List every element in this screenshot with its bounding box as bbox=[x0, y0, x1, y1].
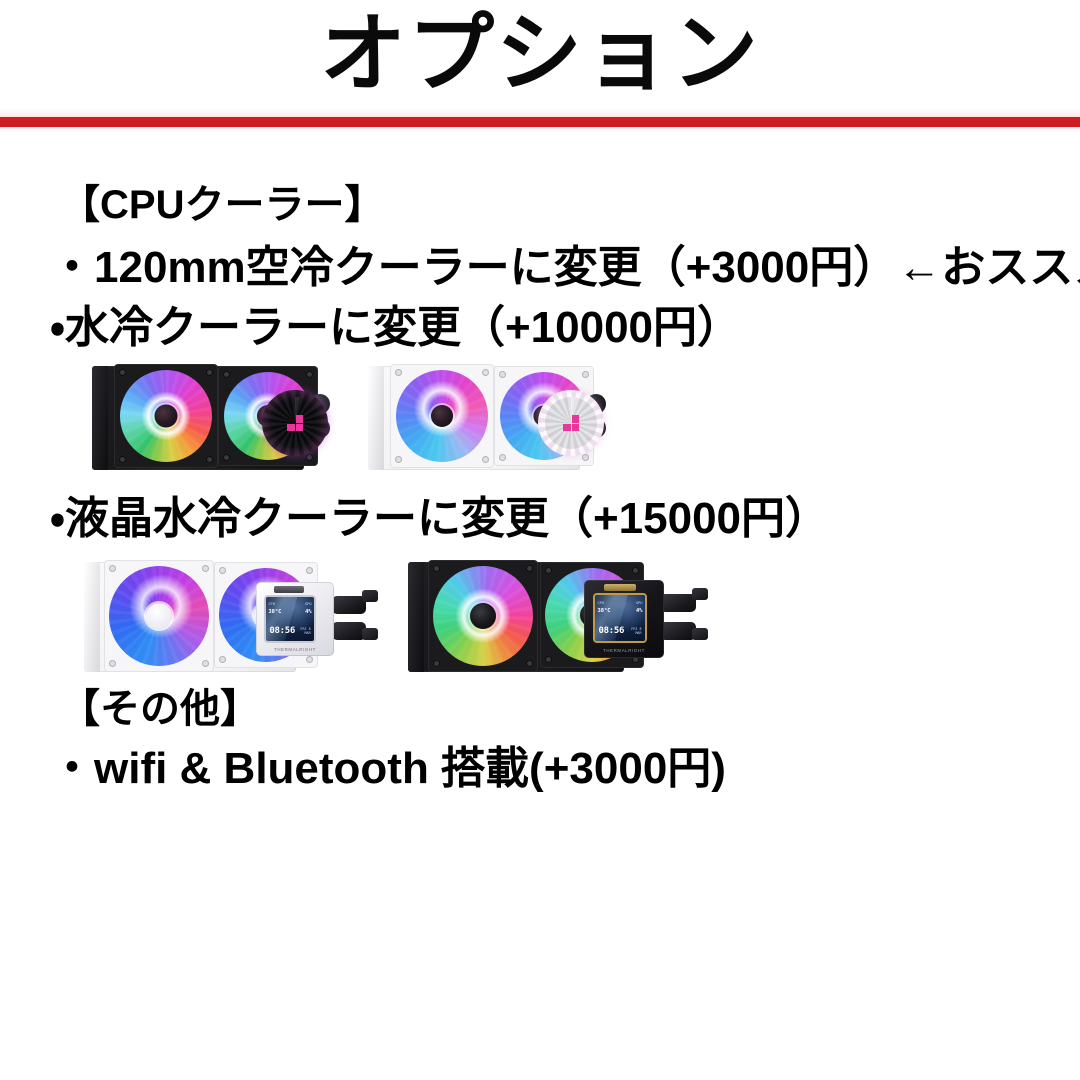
lcd-clock-sub-bottom: MAR bbox=[300, 631, 310, 635]
fan-screw bbox=[582, 371, 589, 378]
fan-screw bbox=[433, 565, 440, 572]
fan-screw bbox=[223, 371, 230, 378]
tube-fitting bbox=[660, 622, 696, 640]
fan-screw bbox=[499, 454, 506, 461]
fan-screw bbox=[395, 456, 402, 463]
lcd-clock-white: 08:56 bbox=[269, 626, 295, 636]
product-image-white-lcd-aio: CPU GPU 38°C 4% 08:56 FRI 8 MAR THERMALR… bbox=[84, 556, 374, 682]
page-title: オプション bbox=[0, 0, 1080, 108]
fan-screw bbox=[219, 656, 226, 663]
product-image-black-lcd-aio: CPU GPU 38°C 4% 08:56 FRI 8 MAR THERMALR… bbox=[408, 556, 708, 682]
radiator-end-tank bbox=[92, 366, 108, 470]
fan-screw bbox=[219, 567, 226, 574]
fan-screw bbox=[306, 567, 313, 574]
fan-screw bbox=[526, 565, 533, 572]
fan-screw bbox=[202, 565, 209, 572]
lcd-cpu-label: CPU bbox=[268, 603, 275, 607]
fan-screw bbox=[482, 369, 489, 376]
fan-screw bbox=[202, 660, 209, 667]
pump-brand-label-white: THERMALRIGHT bbox=[274, 647, 316, 652]
fan-black-lcd-1 bbox=[428, 560, 538, 672]
product-row-lcd-coolers: CPU GPU 38°C 4% 08:56 FRI 8 MAR THERMALR… bbox=[0, 556, 1080, 688]
thermalright-logo-icon bbox=[563, 415, 579, 431]
fan-screw bbox=[206, 369, 213, 376]
fan-screw bbox=[395, 369, 402, 376]
lcd-gpu-value: 4% bbox=[305, 610, 312, 615]
fan-screw bbox=[526, 660, 533, 667]
fan-screw bbox=[206, 456, 213, 463]
fan-screw bbox=[632, 567, 639, 574]
fan-screw bbox=[582, 454, 589, 461]
lcd-clock-sub-white: FRI 8 MAR bbox=[300, 627, 310, 636]
lcd-clock-sub-black: FRI 8 MAR bbox=[631, 627, 641, 636]
fan-white-lcd-1 bbox=[104, 560, 214, 672]
fan-screw bbox=[223, 454, 230, 461]
fan-screw bbox=[119, 369, 126, 376]
fan-screw bbox=[306, 371, 313, 378]
tube-fitting bbox=[332, 622, 366, 640]
lcd-gpu-label: GPU bbox=[636, 602, 643, 606]
lcd-clock-sub-bottom: MAR bbox=[631, 631, 641, 635]
fan-screw bbox=[109, 565, 116, 572]
pump-block-lcd-black: CPU GPU 38°C 4% 08:56 FRI 8 MAR THERMALR… bbox=[584, 580, 664, 658]
lcd-stat-labels: CPU GPU bbox=[268, 603, 311, 607]
tube-arm bbox=[362, 628, 378, 640]
fan-screw bbox=[545, 656, 552, 663]
fan-screw bbox=[545, 567, 552, 574]
pump-top-tab bbox=[274, 586, 304, 593]
fan-screw bbox=[433, 660, 440, 667]
tube-arm bbox=[362, 590, 378, 602]
fan-black-1 bbox=[114, 364, 218, 468]
fan-screw bbox=[109, 660, 116, 667]
page-title-text: オプション bbox=[320, 11, 760, 97]
fan-hub bbox=[146, 603, 172, 629]
radiator-end-tank bbox=[84, 562, 100, 672]
fan-hub bbox=[155, 405, 178, 428]
fan-screw bbox=[119, 456, 126, 463]
fan-screw bbox=[482, 456, 489, 463]
lcd-gpu-label: GPU bbox=[305, 603, 312, 607]
lcd-display-black: CPU GPU 38°C 4% 08:56 FRI 8 MAR bbox=[595, 595, 645, 641]
product-image-black-aio bbox=[92, 362, 344, 474]
option-wifi-bluetooth: ・wifi & Bluetooth 搭載(+3000円) bbox=[50, 747, 726, 791]
tube-fitting bbox=[332, 596, 366, 614]
radiator-end-tank bbox=[408, 562, 424, 672]
lcd-cpu-value: 38°C bbox=[268, 610, 281, 615]
option-lcd-liquid-cooler: ・液晶水冷クーラーに変更（+15000円） bbox=[50, 497, 829, 541]
section-heading-other: 【その他】 bbox=[60, 689, 260, 729]
fan-hub bbox=[470, 603, 496, 629]
lcd-stat-labels: CPU GPU bbox=[598, 602, 643, 606]
thermalright-logo-icon bbox=[287, 415, 303, 431]
lcd-gpu-value: 4% bbox=[636, 609, 643, 614]
fan-screw bbox=[499, 371, 506, 378]
lcd-cpu-label: CPU bbox=[598, 602, 605, 606]
pump-block-lcd-white: CPU GPU 38°C 4% 08:56 FRI 8 MAR THERMALR… bbox=[256, 582, 334, 656]
fan-hub bbox=[431, 405, 453, 427]
divider-red-line bbox=[0, 117, 1080, 127]
pump-block-white bbox=[538, 390, 604, 456]
lcd-stat-values: 38°C 4% bbox=[598, 609, 643, 614]
radiator-end-tank bbox=[368, 366, 384, 470]
option-liquid-cooler: ・水冷クーラーに変更（+10000円） bbox=[50, 306, 741, 350]
tube-arm bbox=[692, 628, 708, 640]
lcd-display-white: CPU GPU 38°C 4% 08:56 FRI 8 MAR bbox=[266, 597, 314, 641]
fan-screw bbox=[306, 656, 313, 663]
slide-root: オプション 【CPUクーラー】 ・120mm空冷クーラーに変更（+3000円）←… bbox=[0, 0, 1080, 1080]
pump-brand-label-black: THERMALRIGHT bbox=[603, 648, 645, 653]
lcd-stat-values: 38°C 4% bbox=[268, 610, 311, 615]
product-row-liquid-coolers bbox=[0, 362, 1080, 484]
lcd-clock-black: 08:56 bbox=[599, 626, 625, 636]
pump-top-tab bbox=[604, 584, 636, 591]
fan-screw bbox=[306, 454, 313, 461]
tube-fitting bbox=[660, 594, 696, 612]
tube-arm bbox=[692, 588, 708, 600]
option-air-cooler-120mm: ・120mm空冷クーラーに変更（+3000円）←おススメ bbox=[50, 246, 1080, 290]
pump-block-black bbox=[262, 390, 328, 456]
title-divider bbox=[0, 108, 1080, 132]
section-heading-cpu-cooler: 【CPUクーラー】 bbox=[60, 185, 384, 225]
lcd-cpu-value: 38°C bbox=[598, 609, 611, 614]
product-image-white-aio bbox=[368, 362, 620, 474]
fan-white-1 bbox=[390, 364, 494, 468]
